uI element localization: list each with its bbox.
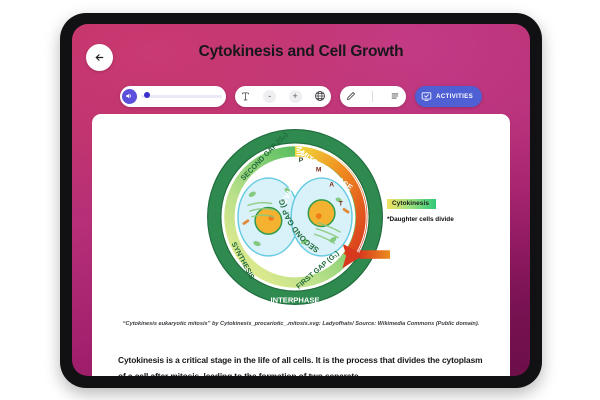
toolbar-divider xyxy=(372,91,373,102)
text-format-icon[interactable] xyxy=(240,91,251,102)
substage-a: A xyxy=(329,182,334,189)
body-paragraph: Cytokinesis is a critical stage in the l… xyxy=(118,352,486,376)
figure-caption: “Cytokinesis eukaryotic mitosis” by Cyto… xyxy=(108,320,494,330)
page-title: Cytokinesis and Cell Growth xyxy=(72,43,530,61)
cytokinesis-callout: Cytokinesis *Daughter cells divide xyxy=(387,192,497,224)
cell-cycle-diagram: MITOTIC PHASE SECOND GAP (G SECOND GAP (… xyxy=(200,122,390,312)
tablet-screen: Cytokinesis and Cell Growth xyxy=(72,24,530,376)
cytokinesis-arrow-tail xyxy=(360,250,390,259)
lesson-toolbar: - + xyxy=(72,84,530,108)
text-size-controls-group: - + xyxy=(235,86,331,107)
monitor-check-icon xyxy=(421,91,432,102)
speaker-glyph xyxy=(125,92,133,100)
callout-note: *Daughter cells divide xyxy=(387,215,497,224)
globe-glyph xyxy=(314,90,326,102)
activities-label: ACTIVITIES xyxy=(436,93,473,100)
pen-glyph xyxy=(346,91,356,101)
app-header: Cytokinesis and Cell Growth xyxy=(72,24,530,72)
substage-p: P xyxy=(299,157,304,164)
pen-icon[interactable] xyxy=(346,91,356,101)
audio-controls-group xyxy=(120,86,226,107)
decrease-text-size-button[interactable]: - xyxy=(263,90,276,103)
substage-m: M xyxy=(316,166,322,173)
increase-text-size-button[interactable]: + xyxy=(289,90,302,103)
globe-icon[interactable] xyxy=(314,90,326,102)
tablet-device-frame: Cytokinesis and Cell Growth xyxy=(60,13,542,388)
figure-area: MITOTIC PHASE SECOND GAP (G SECOND GAP (… xyxy=(92,114,510,319)
text-format-glyph xyxy=(240,91,251,102)
annotation-tools-group xyxy=(340,86,406,107)
speaker-icon[interactable] xyxy=(122,89,137,104)
lesson-content-card: MITOTIC PHASE SECOND GAP (G SECOND GAP (… xyxy=(92,114,510,376)
volume-slider-handle[interactable] xyxy=(144,92,150,98)
substage-t: T xyxy=(339,201,343,208)
volume-slider[interactable] xyxy=(141,95,222,98)
list-glyph xyxy=(390,91,400,101)
callout-title: Cytokinesis xyxy=(387,199,436,209)
activities-button[interactable]: ACTIVITIES xyxy=(415,86,482,107)
list-icon[interactable] xyxy=(390,91,400,101)
ring-label-interphase: INTERPHASE xyxy=(271,296,320,305)
